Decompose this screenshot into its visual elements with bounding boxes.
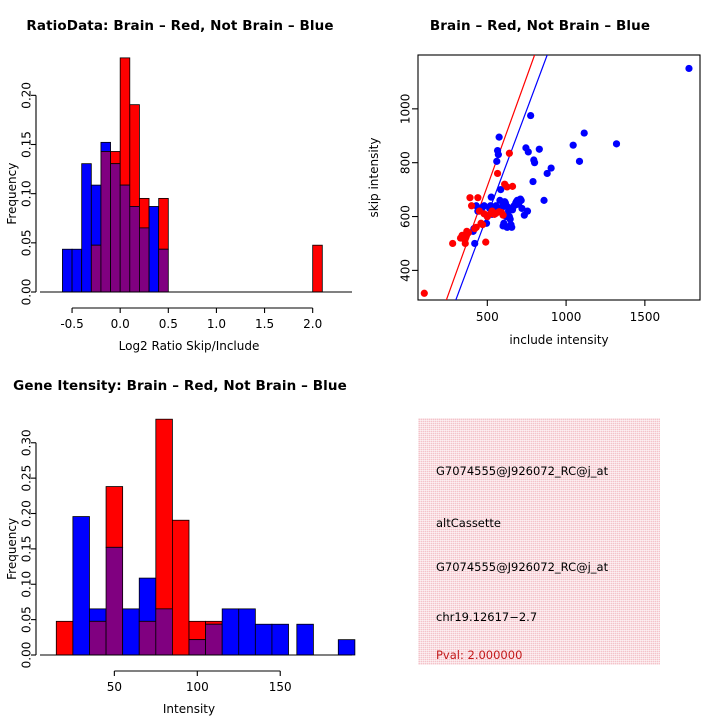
histogram-bar-5-upper [139, 578, 156, 621]
scatter-series-not [470, 65, 693, 247]
scatter-point-18 [479, 221, 486, 228]
histogram-bar-3-overlap [91, 245, 101, 292]
y-axis-ticks: 0.000.050.100.150.200.250.30 [20, 429, 37, 668]
y-tick-label-4: 0.20 [20, 82, 34, 109]
histogram-bar-10-upper [222, 609, 239, 655]
plot-box-frame [418, 55, 700, 300]
histogram-bar-8-upper [139, 198, 149, 228]
y-tick-label-3: 0.15 [20, 131, 34, 158]
histogram-bar-6-overlap [120, 185, 130, 292]
histogram-bar-5-upper [111, 151, 121, 163]
histogram-bar-7-upper [130, 105, 140, 207]
x-axis-ticks: -0.50.00.51.01.52.0 [60, 308, 322, 331]
histogram-bar-2-upper [82, 164, 92, 292]
scatter-point-0 [685, 65, 692, 72]
scatter-point-8 [536, 146, 543, 153]
pval-text: Pval: 2.000000 [436, 648, 522, 662]
y-tick-label-0: 0.00 [20, 279, 34, 306]
gene-histogram-title: Gene Itensity: Brain – Red, Not Brain – … [0, 378, 360, 394]
histogram-bar-6-overlap [156, 609, 173, 655]
x-tick-label-1: 100 [186, 680, 209, 694]
y-axis-ticks: 0.000.050.100.150.20 [20, 82, 37, 305]
histogram-bar-5-overlap [139, 621, 156, 655]
x-axis-ticks: 50100150 [107, 671, 292, 694]
histogram-bar-12-upper [255, 624, 272, 655]
scatter-point-41 [499, 222, 506, 229]
panel-probe-info: G7074555@J926072_RC@j_ataltCassetteG7074… [360, 360, 720, 720]
y-axis-label: Frequency [5, 163, 19, 225]
info-line-3: chr19.12617−2.7 [436, 610, 537, 624]
x-tick-label-4: 1.5 [255, 317, 274, 331]
panel-gene-intensity-histogram: Gene Itensity: Brain – Red, Not Brain – … [0, 360, 360, 720]
y-tick-label-2: 0.10 [20, 180, 34, 207]
scatter-point-48 [494, 147, 501, 154]
figure-canvas: RatioData: Brain – Red, Not Brain – Blue… [0, 0, 720, 720]
scatter-point-4 [576, 158, 583, 165]
scatter-point-7 [462, 240, 469, 247]
histogram-bar-0-upper [62, 249, 72, 292]
histogram-bar-8-overlap [189, 640, 206, 655]
histogram-bar-15-upper [338, 640, 355, 655]
x-tick-label-0: -0.5 [60, 317, 83, 331]
y-tick-label-5: 0.25 [20, 465, 34, 492]
histogram-bar-3-upper [91, 185, 101, 245]
histogram-bar-9-upper [206, 621, 223, 624]
histogram-bar-13-upper [272, 624, 289, 655]
histogram-bar-4-overlap [101, 151, 111, 292]
x-tick-label-2: 0.5 [159, 317, 178, 331]
x-axis-label: include intensity [509, 333, 608, 347]
scatter-point-11 [466, 194, 473, 201]
histogram-bar-10-overlap [159, 249, 169, 292]
scatter-point-7 [540, 197, 547, 204]
x-tick-label-1: 0.0 [111, 317, 130, 331]
y-tick-label-6: 0.30 [20, 429, 34, 456]
info-line-2: G7074555@J926072_RC@j_at [436, 560, 608, 574]
histogram-bar-11-upper [239, 609, 256, 655]
y-axis-label: Frequency [5, 518, 19, 580]
x-tick-label-0: 50 [107, 680, 122, 694]
scatter-point-10 [465, 229, 472, 236]
histogram-bar-3-overlap [106, 547, 123, 655]
scatter-point-16 [521, 212, 528, 219]
x-tick-label-5: 2.0 [303, 317, 322, 331]
histogram-bar-2-upper [89, 609, 106, 621]
x-axis-label: Intensity [163, 702, 215, 716]
histogram-bar-9-overlap [206, 624, 223, 655]
histogram-bar-0-upper [56, 621, 73, 655]
scatter-point-1 [449, 240, 456, 247]
histogram-bar-8-overlap [139, 228, 149, 292]
scatter-point-3 [570, 142, 577, 149]
scatter-point-11 [529, 178, 536, 185]
histogram-bar-14-upper [297, 624, 314, 655]
histogram-bar-6-upper [156, 419, 173, 609]
panel-ratio-histogram: RatioData: Brain – Red, Not Brain – Blue… [0, 0, 360, 360]
x-tick-label-1: 1000 [551, 310, 582, 324]
y-tick-label-3: 0.15 [20, 536, 34, 563]
scatter-point-33 [509, 183, 516, 190]
y-tick-label-1: 0.05 [20, 606, 34, 633]
scatter-point-20 [482, 239, 489, 246]
scatter-point-46 [496, 134, 503, 141]
histogram-bars [56, 419, 355, 655]
scatter-point-32 [506, 150, 513, 157]
scatter-points [421, 65, 693, 297]
scatter-plot: 400600800100050010001500include intensit… [360, 0, 720, 360]
scatter-point-67 [471, 240, 478, 247]
fit-line-not-brain-fit [456, 55, 547, 300]
scatter-point-12 [468, 202, 475, 209]
scatter-point-10 [530, 156, 537, 163]
scatter-point-49 [493, 158, 500, 165]
info-line-1: altCassette [436, 516, 501, 530]
scatter-point-15 [474, 194, 481, 201]
histogram-bar-5-overlap [111, 164, 121, 292]
y-tick-label-3: 1000 [399, 94, 413, 125]
scatter-point-0 [421, 290, 428, 297]
y-tick-label-0: 0.00 [20, 642, 34, 669]
scatter-point-1 [613, 140, 620, 147]
scatter-point-2 [581, 129, 588, 136]
histogram-bar-7-upper [172, 520, 189, 655]
gene-histogram-plot: 0.000.050.100.150.200.250.3050100150Inte… [0, 360, 360, 720]
histogram-bar-9-upper [149, 206, 159, 292]
histogram-bar-7-overlap [130, 206, 140, 292]
histogram-bar-11-upper [313, 245, 323, 292]
histogram-bars [62, 58, 322, 292]
histogram-bar-3-upper [106, 487, 123, 548]
scatter-title: Brain – Red, Not Brain – Blue [360, 18, 720, 34]
histogram-bar-6-upper [120, 58, 130, 185]
y-axis-label: skip intensity [367, 138, 381, 218]
x-axis-label: Log2 Ratio Skip/Include [119, 339, 260, 353]
histogram-bar-2-overlap [89, 621, 106, 655]
ratio-histogram-title: RatioData: Brain – Red, Not Brain – Blue [0, 18, 360, 34]
histogram-bar-4-upper [101, 142, 111, 151]
x-tick-label-0: 500 [476, 310, 499, 324]
y-axis-ticks: 4006008001000 [399, 94, 419, 282]
y-tick-label-1: 0.05 [20, 229, 34, 256]
x-tick-label-2: 1500 [630, 310, 661, 324]
histogram-bar-1-upper [72, 249, 82, 292]
info-line-0: G7074555@J926072_RC@j_at [436, 464, 608, 478]
scatter-point-56 [488, 194, 495, 201]
histogram-bar-4-upper [123, 609, 140, 655]
scatter-point-29 [499, 212, 506, 219]
probe-info-box: G7074555@J926072_RC@j_ataltCassetteG7074… [418, 418, 660, 665]
scatter-point-12 [527, 112, 534, 119]
x-axis-ticks: 50010001500 [476, 300, 660, 324]
scatter-point-15 [522, 144, 529, 151]
fit-lines [446, 55, 547, 300]
x-tick-label-3: 1.0 [207, 317, 226, 331]
panel-intensity-scatter: Brain – Red, Not Brain – Blue 4006008001… [360, 0, 720, 360]
y-tick-label-4: 0.20 [20, 500, 34, 527]
y-tick-label-0: 400 [399, 259, 413, 282]
y-tick-label-1: 600 [399, 205, 413, 228]
y-tick-label-2: 800 [399, 151, 413, 174]
histogram-bar-10-upper [159, 198, 169, 249]
histogram-bar-1-upper [73, 517, 90, 655]
histogram-bar-8-upper [189, 621, 206, 639]
scatter-point-26 [494, 170, 501, 177]
fit-line-brain-fit [446, 55, 534, 300]
x-tick-label-2: 150 [269, 680, 292, 694]
ratio-histogram-plot: 0.000.050.100.150.20-0.50.00.51.01.52.0L… [0, 0, 360, 360]
y-tick-label-2: 0.10 [20, 571, 34, 598]
scatter-point-6 [544, 170, 551, 177]
